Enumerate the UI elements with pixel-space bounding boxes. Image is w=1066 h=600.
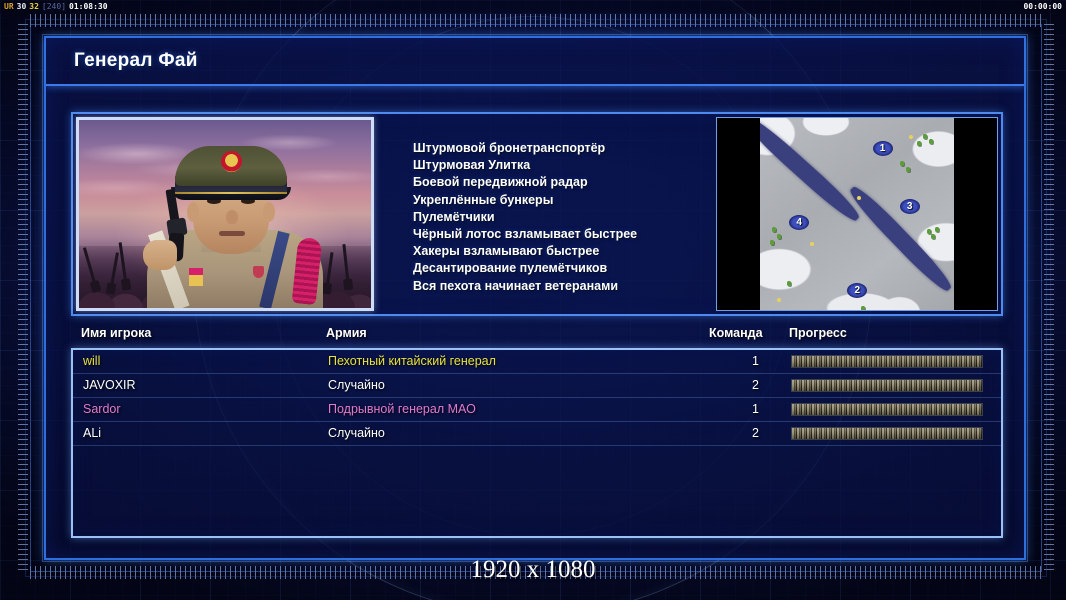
player-team[interactable]: 1 [711,354,759,368]
map-start-position-4: 4 [789,215,809,230]
map-tree [787,281,791,286]
map-start-position-1: 1 [873,141,893,156]
portrait-nose [226,210,238,224]
map-tree [931,234,935,239]
map-preview-frame[interactable]: 1 2 3 4 [716,117,998,311]
map-tree [935,227,939,232]
table-row[interactable]: ALi Случайно 2 [73,422,1001,446]
portrait-general-figure [141,158,327,308]
status-value3: [240] [42,2,66,11]
table-row[interactable]: Sardor Подрывной генерал МАО 1 [73,398,1001,422]
general-info-panel: Штурмовой бронетранспортёр Штурмовая Ули… [71,112,1003,316]
portrait-insignia [253,266,264,278]
table-row[interactable]: JAVOXIR Случайно 2 [73,374,1001,398]
player-progress-bar [791,379,983,392]
player-army[interactable]: Пехотный китайский генерал [328,354,496,368]
player-army[interactable]: Случайно [328,426,385,440]
map-tree [772,227,776,232]
player-progress-bar [791,355,983,368]
player-progress-bar [791,427,983,440]
window-titlebar: Генерал Фай [46,38,1024,86]
portrait-hand [143,240,177,270]
ability-item: Вся пехота начинает ветеранами [413,278,713,295]
ability-item: Штурмовая Улитка [413,157,713,174]
player-list-panel: will Пехотный китайский генерал 1 JAVOXI… [71,348,1003,538]
player-army[interactable]: Подрывной генерал МАО [328,402,476,416]
ability-item: Боевой передвижной радар [413,174,713,191]
general-info-window: Генерал Фай [44,36,1026,560]
map-tree [906,167,910,172]
rifle-icon [109,252,119,292]
ability-item: Чёрный лотос взламывает быстрее [413,226,713,243]
column-header-name: Имя игрока [81,326,151,340]
status-value2: 32 [29,2,39,11]
ability-item: Укреплённые бункеры [413,192,713,209]
player-name: JAVOXIR [83,378,136,392]
rifle-icon [83,247,98,290]
rifle-icon [119,242,128,288]
portrait-ear-right [263,202,275,222]
map-preview-image: 1 2 3 4 [760,118,954,311]
map-tree [929,139,933,144]
player-progress-bar [791,403,983,416]
general-portrait [76,117,374,311]
player-name: will [83,354,100,368]
portrait-medal [189,268,203,286]
player-progress-fill [792,404,982,415]
status-clock: 01:08:30 [69,2,108,11]
portrait-mouth [219,231,245,236]
map-resource [857,196,861,200]
map-tree [900,161,904,166]
ability-item: Пулемётчики [413,209,713,226]
general-ability-list: Штурмовой бронетранспортёр Штурмовая Ули… [413,140,713,295]
column-header-progress: Прогресс [789,326,847,340]
column-header-army: Армия [326,326,367,340]
player-list-header: Имя игрока Армия Команда Прогресс [71,326,1003,346]
column-header-team: Команда [709,326,763,340]
game-lobby-screen: UR 30 32 [240] 01:08:30 00:00:00 Генерал… [0,0,1066,600]
player-progress-fill [792,356,982,367]
player-name: Sardor [83,402,121,416]
ability-item: Хакеры взламывают быстрее [413,243,713,260]
status-value1: 30 [17,2,27,11]
game-timer: 00:00:00 [1023,2,1062,11]
map-tree [927,229,931,234]
ability-item: Штурмовой бронетранспортёр [413,140,713,157]
player-team[interactable]: 2 [711,426,759,440]
player-team[interactable]: 1 [711,402,759,416]
map-tree [923,134,927,139]
player-team[interactable]: 2 [711,378,759,392]
page-title: Генерал Фай [74,50,198,72]
player-progress-fill [792,380,982,391]
map-tree [867,310,871,311]
rifle-icon [342,244,350,288]
map-tree [861,306,865,311]
player-progress-fill [792,428,982,439]
status-bar-stats: UR 30 32 [240] 01:08:30 [4,2,108,11]
status-label: UR [4,2,14,11]
table-row[interactable]: will Пехотный китайский генерал 1 [73,350,1001,374]
portrait-cap-badge-icon [221,151,242,172]
player-name: ALi [83,426,101,440]
map-tree [770,240,774,245]
status-bar: UR 30 32 [240] 01:08:30 00:00:00 [0,0,1066,13]
ability-item: Десантирование пулемётчиков [413,260,713,277]
player-army[interactable]: Случайно [328,378,385,392]
resolution-overlay: 1920 x 1080 [0,556,1066,584]
